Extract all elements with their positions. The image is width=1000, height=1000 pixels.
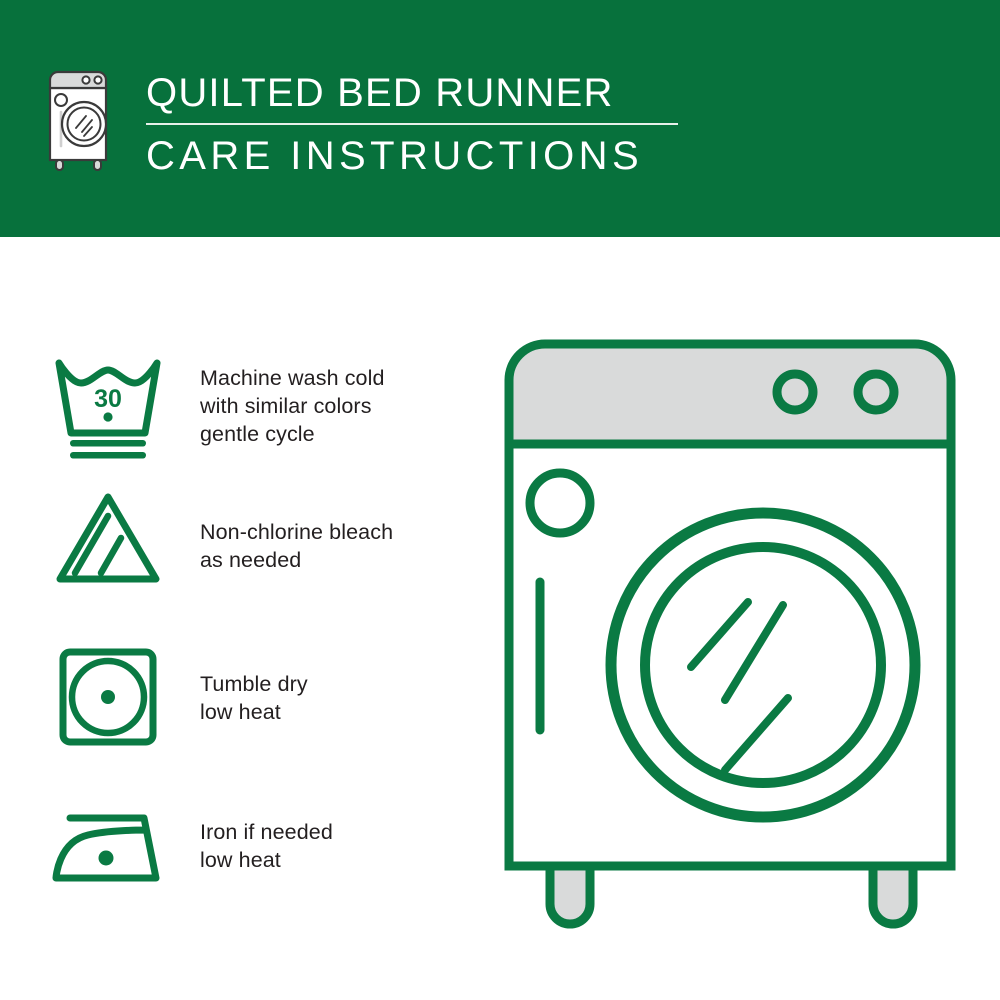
- tumble-dry-low-icon: [48, 637, 168, 757]
- wash-temperature-label: 30: [94, 385, 122, 413]
- care-line: as needed: [200, 546, 393, 574]
- knob-right: [858, 374, 894, 410]
- leg-right: [873, 866, 913, 924]
- care-text-tumble-dry: Tumble dry low heat: [200, 670, 308, 726]
- care-row-machine-wash: 30 Machine wash cold with similar colors…: [0, 345, 470, 495]
- care-line: with similar colors: [200, 392, 385, 420]
- care-instruction-list: 30 Machine wash cold with similar colors…: [0, 237, 470, 1000]
- care-row-bleach: Non-chlorine bleach as needed: [0, 485, 470, 635]
- care-line: Tumble dry: [200, 670, 308, 698]
- washing-machine-icon: [44, 66, 118, 174]
- care-line: Non-chlorine bleach: [200, 518, 393, 546]
- care-row-tumble-dry: Tumble dry low heat: [0, 637, 470, 787]
- iron-low-heat-icon: [48, 785, 168, 905]
- title-divider: [146, 123, 678, 125]
- header-band: QUILTED BED RUNNER CARE INSTRUCTIONS: [0, 0, 1000, 237]
- page-title: QUILTED BED RUNNER: [146, 70, 686, 116]
- header-titles: QUILTED BED RUNNER CARE INSTRUCTIONS: [146, 70, 686, 179]
- care-line: gentle cycle: [200, 420, 385, 448]
- detergent-dispenser: [530, 473, 590, 533]
- care-line: low heat: [200, 698, 308, 726]
- washing-machine-illustration: [495, 330, 970, 950]
- door-inner-ring: [645, 547, 881, 783]
- leg-left: [550, 866, 590, 924]
- care-line: Iron if needed: [200, 818, 333, 846]
- knob-left: [777, 374, 813, 410]
- page-subtitle: CARE INSTRUCTIONS: [146, 133, 686, 179]
- care-line: low heat: [200, 846, 333, 874]
- care-instructions-infographic: QUILTED BED RUNNER CARE INSTRUCTIONS 30: [0, 0, 1000, 1000]
- care-text-bleach: Non-chlorine bleach as needed: [200, 518, 393, 574]
- wash-tub-30-gentle-icon: 30: [48, 345, 168, 465]
- care-text-iron: Iron if needed low heat: [200, 818, 333, 874]
- non-chlorine-bleach-triangle-icon: [48, 485, 168, 605]
- care-row-iron: Iron if needed low heat: [0, 785, 470, 935]
- care-text-machine-wash: Machine wash cold with similar colors ge…: [200, 364, 385, 448]
- care-line: Machine wash cold: [200, 364, 385, 392]
